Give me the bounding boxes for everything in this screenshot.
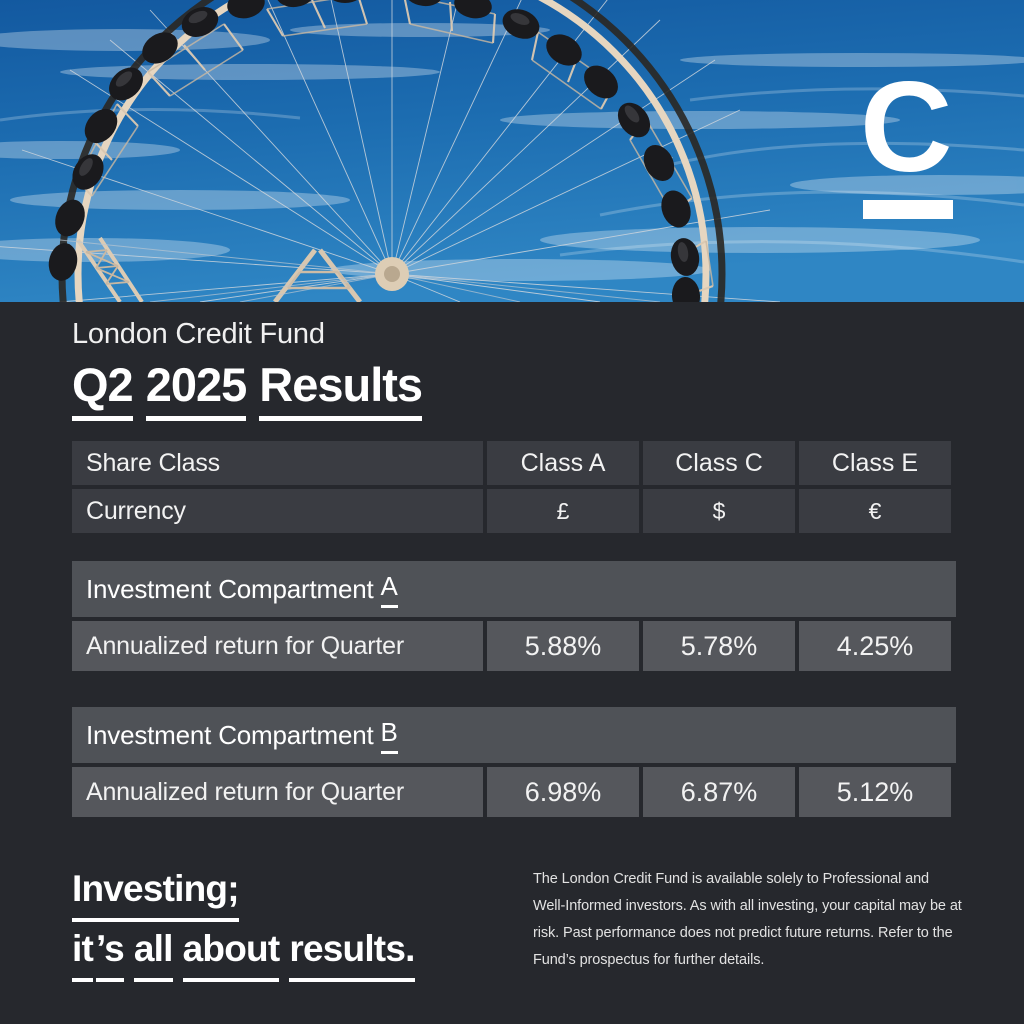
tagline-group-its: it ’s bbox=[72, 922, 124, 982]
return-b-class-c: 6.87% bbox=[643, 767, 795, 817]
tagline-word-all: all bbox=[134, 922, 173, 982]
tagline-word-about: about bbox=[183, 922, 280, 982]
tagline-line-1: Investing; bbox=[72, 862, 415, 922]
title-word-year: 2025 bbox=[146, 357, 247, 421]
fund-name: London Credit Fund bbox=[72, 318, 325, 351]
compartment-b-header: Investment Compartment B bbox=[72, 707, 956, 763]
return-b-class-a: 6.98% bbox=[487, 767, 639, 817]
cell-currency-usd: $ bbox=[643, 489, 795, 533]
compartment-a-letter: A bbox=[381, 571, 398, 608]
return-b-class-e: 5.12% bbox=[799, 767, 951, 817]
return-a-class-c: 5.78% bbox=[643, 621, 795, 671]
results-card: C London Credit Fund Q2 2025 Results Sha… bbox=[0, 0, 1024, 1024]
cell-class-e: Class E bbox=[799, 441, 951, 485]
compartment-a-table: Investment Compartment A Annualized retu… bbox=[72, 561, 956, 671]
tagline-word-results: results. bbox=[289, 922, 414, 982]
compartment-b-letter: B bbox=[381, 717, 398, 754]
compartment-b-title: Investment Compartment bbox=[86, 720, 374, 751]
compartment-a-title: Investment Compartment bbox=[86, 574, 374, 605]
logo-underline-bar bbox=[863, 200, 953, 219]
row-label-share-class: Share Class bbox=[72, 441, 483, 485]
share-class-table: Share Class Class A Class C Class E Curr… bbox=[72, 441, 956, 533]
cell-currency-gbp: £ bbox=[487, 489, 639, 533]
return-a-class-e: 4.25% bbox=[799, 621, 951, 671]
tagline-line-2: it ’s all about results. bbox=[72, 922, 415, 982]
tagline-word-s: ’s bbox=[96, 922, 124, 982]
compartment-a-header: Investment Compartment A bbox=[72, 561, 956, 617]
tagline-word-it: it bbox=[72, 922, 93, 982]
page-title: Q2 2025 Results bbox=[72, 357, 422, 421]
table-row-share-class: Share Class Class A Class C Class E bbox=[72, 441, 956, 485]
brand-logo: C bbox=[860, 78, 956, 220]
tagline: Investing; it ’s all about results. bbox=[72, 862, 415, 982]
title-word-quarter: Q2 bbox=[72, 357, 133, 421]
tagline-word-investing: Investing; bbox=[72, 862, 239, 922]
compartment-a-return-row: Annualized return for Quarter 5.88% 5.78… bbox=[72, 621, 956, 671]
table-row-currency: Currency £ $ € bbox=[72, 489, 956, 533]
title-word-results: Results bbox=[259, 357, 422, 421]
cell-currency-eur: € bbox=[799, 489, 951, 533]
compartment-b-table: Investment Compartment B Annualized retu… bbox=[72, 707, 956, 817]
cell-class-c: Class C bbox=[643, 441, 795, 485]
compartment-b-return-row: Annualized return for Quarter 6.98% 6.87… bbox=[72, 767, 956, 817]
cell-class-a: Class A bbox=[487, 441, 639, 485]
row-label-currency: Currency bbox=[72, 489, 483, 533]
metric-label-b: Annualized return for Quarter bbox=[72, 767, 483, 817]
disclaimer-text: The London Credit Fund is available sole… bbox=[533, 866, 963, 974]
metric-label-a: Annualized return for Quarter bbox=[72, 621, 483, 671]
return-a-class-a: 5.88% bbox=[487, 621, 639, 671]
logo-letter: C bbox=[860, 78, 956, 178]
